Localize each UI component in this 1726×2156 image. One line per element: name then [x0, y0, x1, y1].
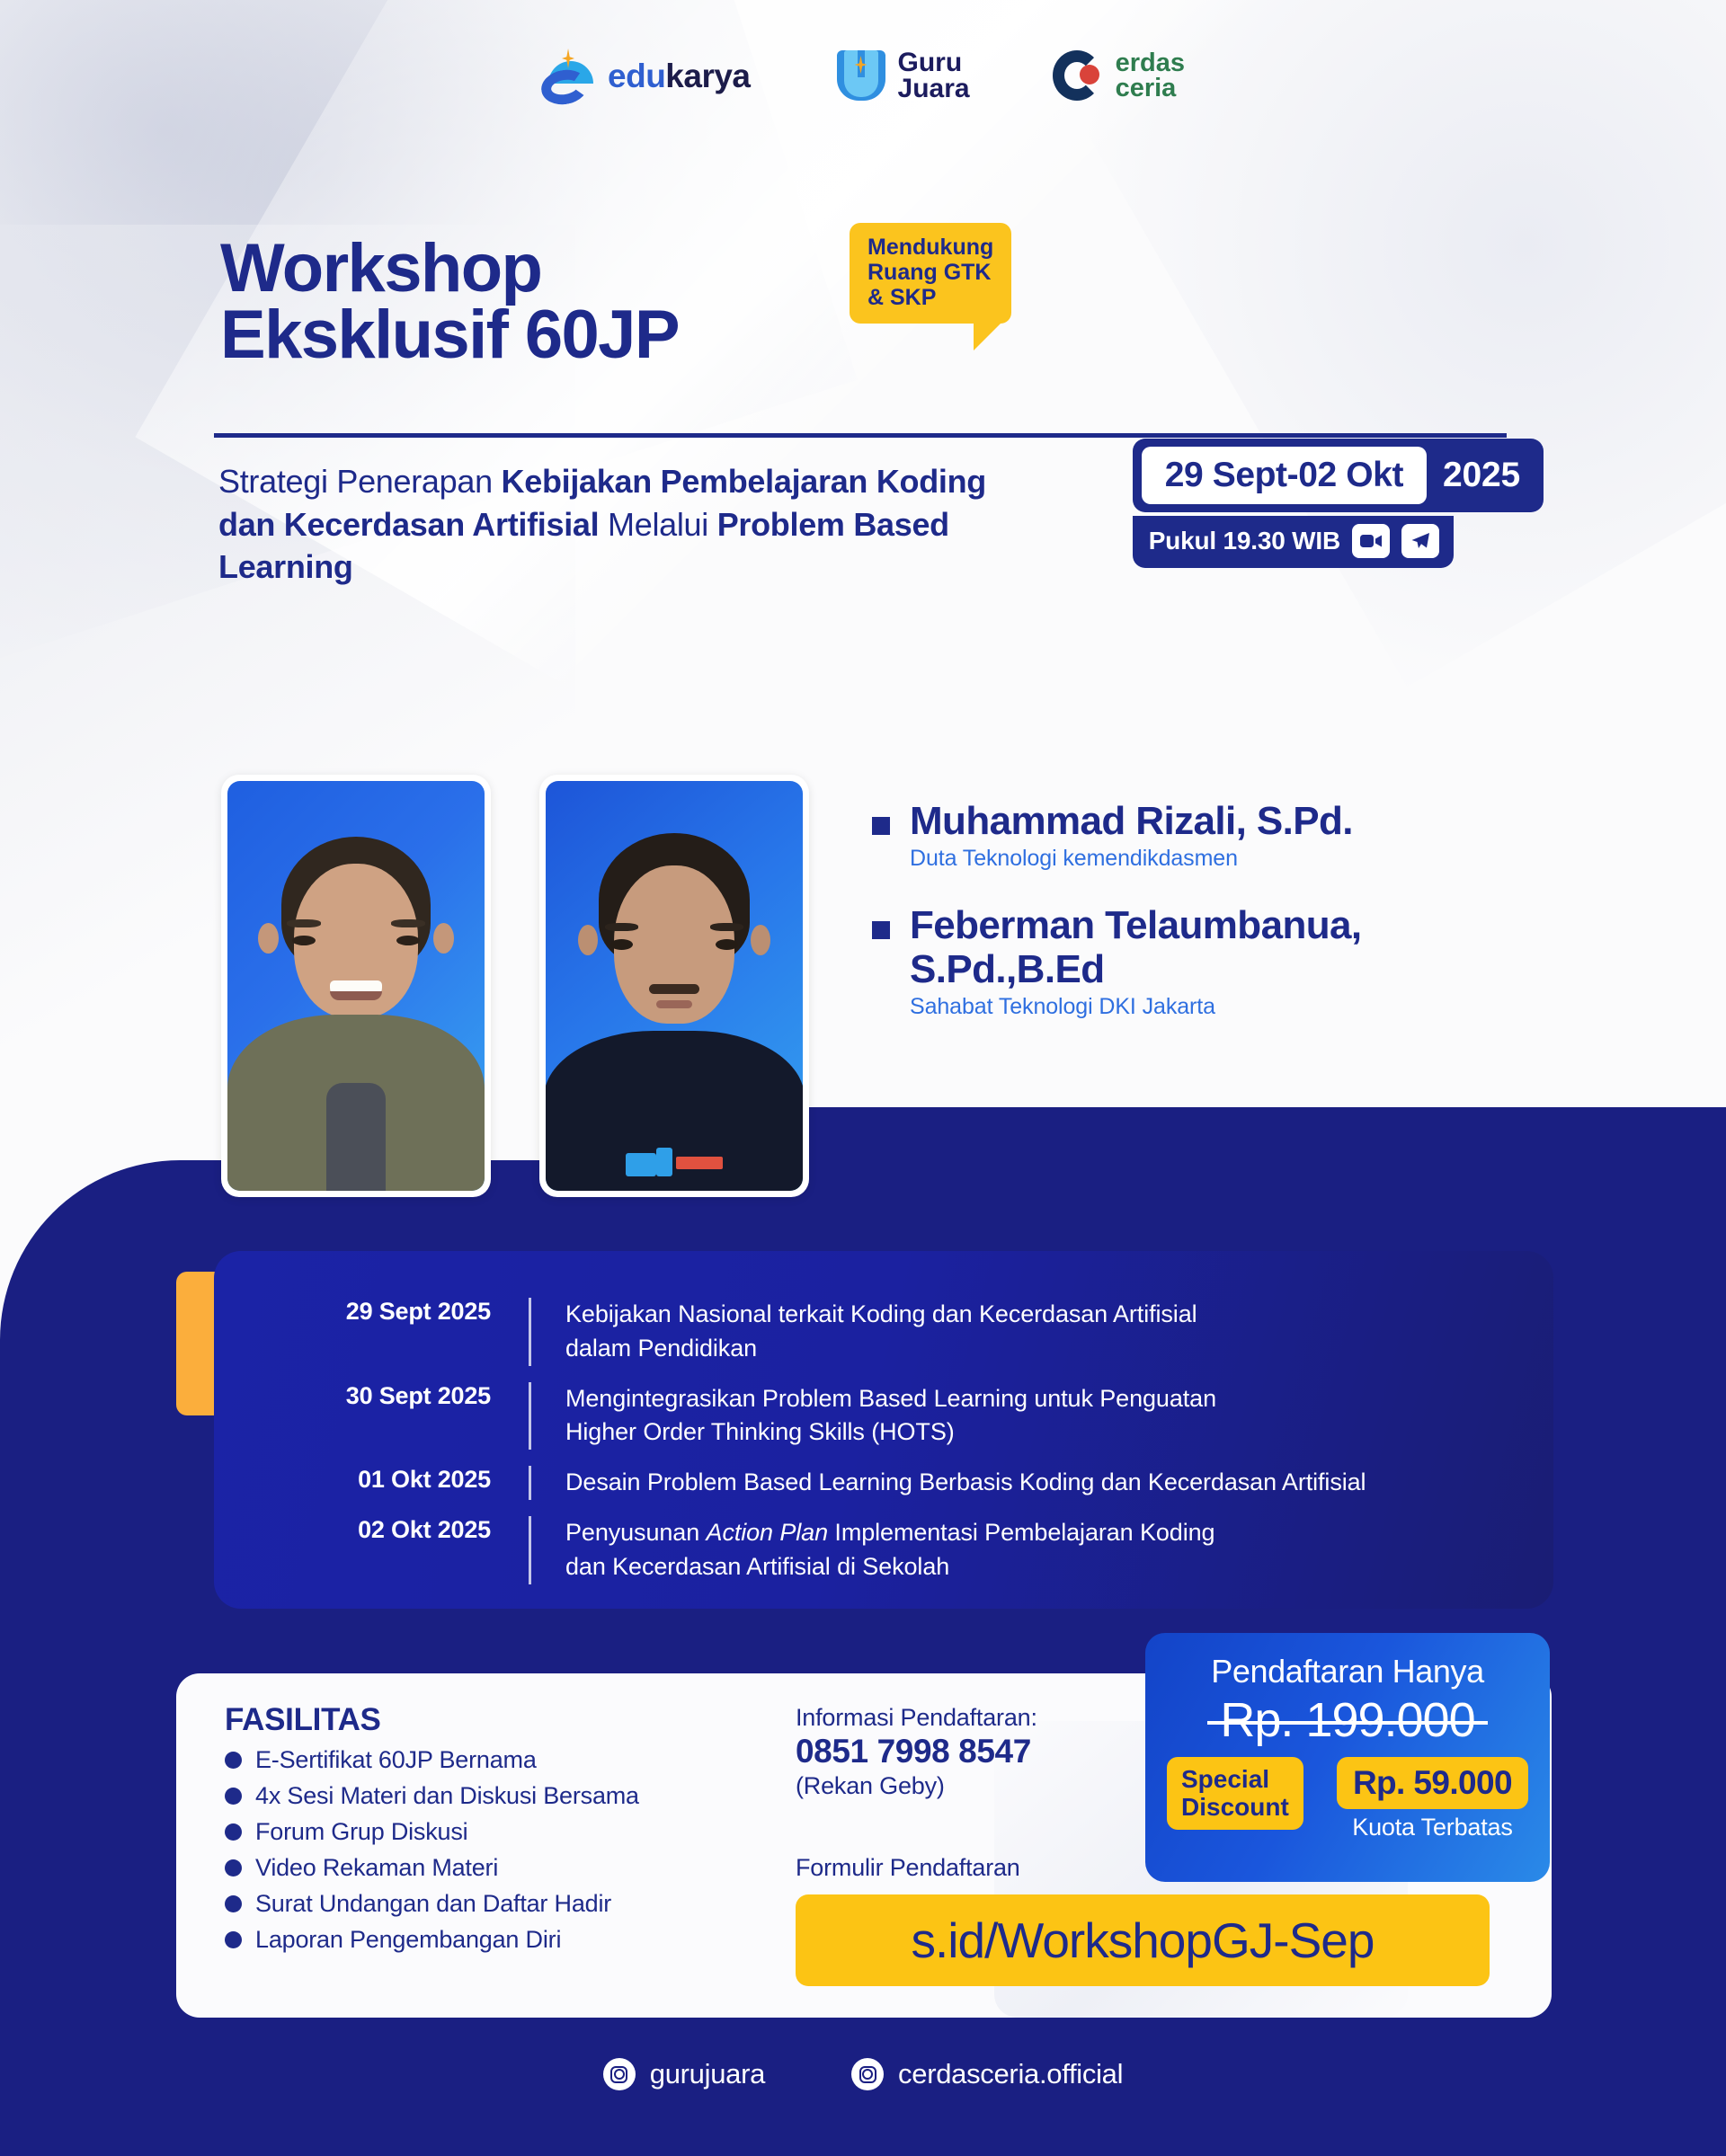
title-line-1: Workshop	[220, 235, 679, 302]
logo-edukarya: edukarya	[541, 49, 751, 104]
title-line-2: Eksklusif 60JP	[220, 302, 679, 368]
subtitle-part-1: Strategi Penerapan	[218, 463, 502, 500]
agenda-row: 02 Okt 2025 Penyusunan Action Plan Imple…	[268, 1516, 1499, 1584]
special-discount-badge: Special Discount	[1167, 1757, 1303, 1830]
facility-item: E-Sertifikat 60JP Bernama	[225, 1746, 639, 1774]
guru-juara-shield-icon	[833, 47, 889, 106]
facility-label: E-Sertifikat 60JP Bernama	[255, 1746, 537, 1774]
speaker-photo-1	[221, 775, 491, 1197]
speaker-name: Muhammad Rizali, S.Pd.	[910, 800, 1353, 843]
facilities-block: FASILITAS E-Sertifikat 60JP Bernama 4x S…	[225, 1702, 639, 1954]
support-badge: Mendukung Ruang GTK & SKP	[850, 223, 1011, 324]
social-handle-label: cerdasceria.official	[898, 2058, 1123, 2090]
support-badge-line-1: Mendukung	[867, 235, 993, 260]
logo-guru-juara: Guru Juara	[833, 47, 970, 106]
event-year: 2025	[1443, 456, 1520, 495]
social-handle-gurujuara[interactable]: gurujuara	[603, 2058, 765, 2090]
bullet-dot-icon	[225, 1931, 242, 1948]
speech-bubble-tail-icon	[974, 320, 1004, 350]
instagram-icon	[603, 2058, 636, 2090]
speaker-item: Muhammad Rizali, S.Pd. Duta Teknologi ke…	[872, 800, 1537, 872]
agenda-row: 30 Sept 2025 Mengintegrasikan Problem Ba…	[268, 1382, 1499, 1451]
agenda-date: 29 Sept 2025	[268, 1298, 529, 1366]
guru-juara-line1: Guru	[898, 50, 970, 76]
agenda-date: 30 Sept 2025	[268, 1382, 529, 1451]
facility-label: Laporan Pengembangan Diri	[255, 1926, 561, 1954]
video-camera-icon	[1352, 524, 1390, 558]
speaker-role: Duta Teknologi kemendikdasmen	[910, 846, 1353, 872]
quota-note: Kuota Terbatas	[1337, 1814, 1528, 1841]
facility-item: Surat Undangan dan Daftar Hadir	[225, 1890, 639, 1918]
cerdas-ceria-wordmark: erdas ceria	[1116, 51, 1185, 102]
cerdas-ceria-mark-icon	[1053, 49, 1107, 104]
subtitle-part-2: Melalui	[599, 506, 716, 543]
facility-item: Laporan Pengembangan Diri	[225, 1926, 639, 1954]
telegram-icon	[1401, 524, 1439, 558]
social-handle-cerdasceria[interactable]: cerdasceria.official	[851, 2058, 1123, 2090]
event-date-badge: 29 Sept-02 Okt 2025 Pukul 19.30 WIB	[1133, 439, 1544, 568]
title-block: Workshop Eksklusif 60JP Mendukung Ruang …	[220, 235, 679, 369]
facility-label: Forum Grup Diskusi	[255, 1818, 467, 1846]
agenda-topic-line: dalam Pendidikan	[565, 1335, 757, 1362]
agenda-topic: Penyusunan Action Plan Implementasi Pemb…	[531, 1516, 1214, 1584]
bullet-square-icon	[872, 817, 890, 835]
contact-label: Informasi Pendaftaran:	[796, 1704, 1037, 1732]
facility-item: 4x Sesi Materi dan Diskusi Bersama	[225, 1782, 639, 1810]
guru-juara-wordmark: Guru Juara	[898, 50, 970, 102]
agenda-topic-italic: Action Plan	[707, 1519, 828, 1546]
agenda-topic: Desain Problem Based Learning Berbasis K…	[531, 1466, 1366, 1500]
date-row: 29 Sept-02 Okt 2025	[1133, 439, 1544, 512]
discount-line-1: Special	[1181, 1765, 1289, 1793]
agenda-topic-line: Mengintegrasikan Problem Based Learning …	[565, 1385, 1216, 1412]
facility-item: Video Rekaman Materi	[225, 1854, 639, 1882]
price-card: Pendaftaran Hanya Rp. 199.000 Special Di…	[1145, 1633, 1550, 1882]
support-badge-line-2: Ruang GTK	[867, 260, 993, 285]
edukarya-text-b: karya	[665, 58, 750, 94]
edukarya-mark-icon	[541, 49, 599, 104]
speaker-name: Feberman Telaumbanua, S.Pd.,B.Ed	[910, 904, 1537, 991]
speaker-role: Sahabat Teknologi DKI Jakarta	[910, 994, 1537, 1020]
form-label: Formulir Pendaftaran	[796, 1854, 1020, 1882]
agenda-topic-line: Kebijakan Nasional terkait Koding dan Ke…	[565, 1300, 1197, 1327]
time-row: Pukul 19.30 WIB	[1133, 516, 1454, 568]
registration-url-button[interactable]: s.id/WorkshopGJ-Sep	[796, 1894, 1490, 1986]
subtitle-text: Strategi Penerapan Kebijakan Pembelajara…	[218, 460, 992, 589]
agenda-topic-line: Implementasi Pembelajaran Koding	[828, 1519, 1214, 1546]
bullet-dot-icon	[225, 1859, 242, 1877]
facility-label: Video Rekaman Materi	[255, 1854, 498, 1882]
price-label: Pendaftaran Hanya	[1167, 1653, 1528, 1690]
contact-person: (Rekan Geby)	[796, 1772, 1037, 1800]
partner-logo-bar: edukarya Guru Juara erdas ceria	[0, 47, 1726, 106]
bullet-dot-icon	[225, 1788, 242, 1805]
edukarya-wordmark: edukarya	[608, 58, 751, 95]
facility-item: Forum Grup Diskusi	[225, 1818, 639, 1846]
bullet-square-icon	[872, 921, 890, 939]
social-footer: gurujuara cerdasceria.official	[0, 2058, 1726, 2090]
instagram-icon	[851, 2058, 884, 2090]
facility-label: 4x Sesi Materi dan Diskusi Bersama	[255, 1782, 639, 1810]
agenda-topic-line: Desain Problem Based Learning Berbasis K…	[565, 1468, 1366, 1495]
agenda-row: 01 Okt 2025 Desain Problem Based Learnin…	[268, 1466, 1499, 1500]
bullet-dot-icon	[225, 1752, 242, 1769]
social-handle-label: gurujuara	[650, 2058, 765, 2090]
agenda-row: 29 Sept 2025 Kebijakan Nasional terkait …	[268, 1298, 1499, 1366]
discount-line-2: Discount	[1181, 1793, 1289, 1821]
cerdas-ceria-line1: erdas	[1116, 51, 1185, 76]
agenda-date: 02 Okt 2025	[268, 1516, 529, 1584]
agenda-topic-line: Higher Order Thinking Skills (HOTS)	[565, 1418, 955, 1445]
bullet-dot-icon	[225, 1823, 242, 1841]
logo-cerdas-ceria: erdas ceria	[1053, 49, 1185, 104]
agenda-topic: Kebijakan Nasional terkait Koding dan Ke…	[531, 1298, 1197, 1366]
contact-block: Informasi Pendaftaran: 0851 7998 8547 (R…	[796, 1704, 1037, 1800]
event-dates: 29 Sept-02 Okt	[1142, 447, 1427, 504]
facility-label: Surat Undangan dan Daftar Hadir	[255, 1890, 611, 1918]
speaker-list: Muhammad Rizali, S.Pd. Duta Teknologi ke…	[872, 800, 1537, 1052]
speaker-photo-2	[539, 775, 809, 1197]
title-divider	[214, 433, 1507, 438]
cerdas-ceria-line2: ceria	[1116, 76, 1185, 102]
agenda-card: 29 Sept 2025 Kebijakan Nasional terkait …	[214, 1251, 1553, 1609]
agenda-date: 01 Okt 2025	[268, 1466, 529, 1500]
facilities-heading: FASILITAS	[225, 1702, 639, 1738]
support-badge-line-3: & SKP	[867, 285, 993, 310]
event-time: Pukul 19.30 WIB	[1149, 527, 1340, 555]
edukarya-text-a: edu	[608, 58, 665, 94]
agenda-topic: Mengintegrasikan Problem Based Learning …	[531, 1382, 1216, 1451]
agenda-topic-line: dan Kecerdasan Artifisial di Sekolah	[565, 1553, 949, 1580]
bullet-dot-icon	[225, 1895, 242, 1912]
contact-phone-number[interactable]: 0851 7998 8547	[796, 1733, 1037, 1770]
price-row: Special Discount Rp. 59.000 Kuota Terbat…	[1167, 1757, 1528, 1841]
poster-root: edukarya Guru Juara erdas ceria	[0, 0, 1726, 2156]
price-discounted: Rp. 59.000	[1337, 1757, 1528, 1809]
speaker-item: Feberman Telaumbanua, S.Pd.,B.Ed Sahabat…	[872, 904, 1537, 1020]
price-original-strikethrough: Rp. 199.000	[1220, 1692, 1474, 1748]
guru-juara-line2: Juara	[898, 76, 970, 102]
agenda-topic-line: Penyusunan	[565, 1519, 707, 1546]
